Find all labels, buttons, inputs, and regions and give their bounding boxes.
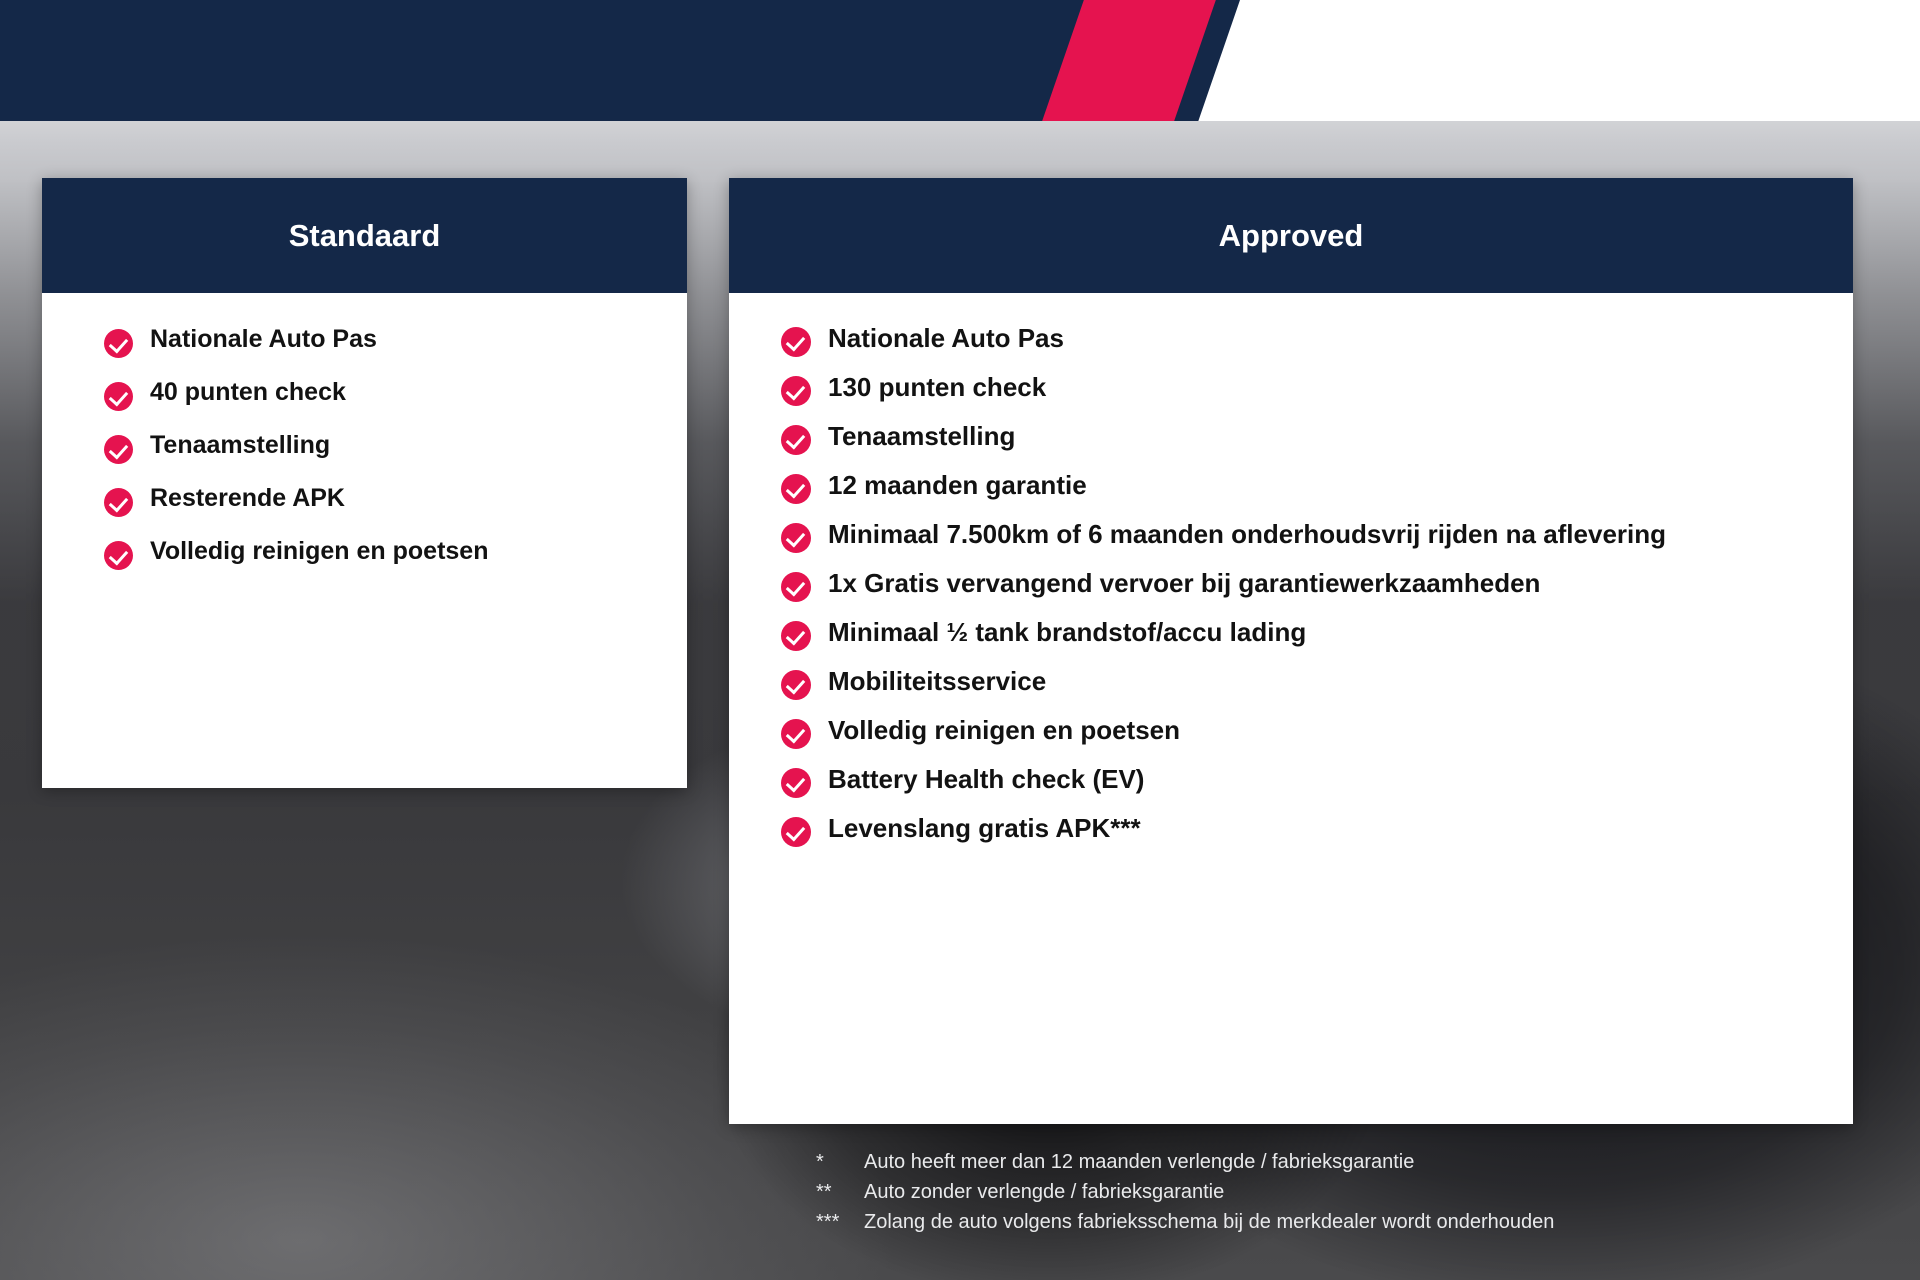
feature-label: Tenaamstelling <box>828 419 1015 455</box>
footnote-marker: ** <box>816 1178 864 1208</box>
check-circle-icon <box>781 327 811 357</box>
feature-item: 40 punten check <box>104 378 687 411</box>
feature-list-standaard: Nationale Auto Pas40 punten checkTenaams… <box>104 325 687 570</box>
feature-item: Nationale Auto Pas <box>781 321 1791 357</box>
feature-item: Tenaamstelling <box>781 419 1791 455</box>
check-circle-icon <box>781 621 811 651</box>
footnote-row: ***Zolang de auto volgens fabrieksschema… <box>816 1208 1554 1238</box>
feature-item: 130 punten check <box>781 370 1791 406</box>
feature-item: Tenaamstelling <box>104 431 687 464</box>
check-circle-icon <box>781 719 811 749</box>
feature-label: Tenaamstelling <box>150 431 330 460</box>
feature-item: Mobiliteitsservice <box>781 664 1791 700</box>
feature-label: Volledig reinigen en poetsen <box>150 537 488 566</box>
footnote-marker: * <box>816 1148 864 1178</box>
check-circle-icon <box>104 488 133 517</box>
feature-label: 40 punten check <box>150 378 346 407</box>
footnote-marker: *** <box>816 1208 864 1238</box>
check-circle-icon <box>781 425 811 455</box>
card-title-approved: Approved <box>729 178 1853 293</box>
feature-label: Nationale Auto Pas <box>150 325 377 354</box>
footnote-text: Zolang de auto volgens fabrieksschema bi… <box>864 1208 1554 1238</box>
page-header <box>0 0 1920 121</box>
check-circle-icon <box>781 670 811 700</box>
feature-label: Resterende APK <box>150 484 345 513</box>
feature-label: 1x Gratis vervangend vervoer bij garanti… <box>828 566 1540 602</box>
check-circle-icon <box>104 382 133 411</box>
footnote-row: **Auto zonder verlengde / fabrieksgarant… <box>816 1178 1554 1208</box>
feature-item: Volledig reinigen en poetsen <box>104 537 687 570</box>
check-circle-icon <box>104 435 133 464</box>
feature-list-approved: Nationale Auto Pas130 punten checkTenaam… <box>781 321 1853 847</box>
background-highlight <box>0 112 1920 182</box>
feature-label: Volledig reinigen en poetsen <box>828 713 1180 749</box>
feature-label: Mobiliteitsservice <box>828 664 1046 700</box>
feature-label: 130 punten check <box>828 370 1046 406</box>
feature-item: Nationale Auto Pas <box>104 325 687 358</box>
feature-item: Minimaal ½ tank brandstof/accu lading <box>781 615 1791 651</box>
footnote-text: Auto heeft meer dan 12 maanden verlengde… <box>864 1148 1414 1178</box>
feature-label: Battery Health check (EV) <box>828 762 1144 798</box>
card-title-standaard: Standaard <box>42 178 687 293</box>
feature-item: 1x Gratis vervangend vervoer bij garanti… <box>781 566 1791 602</box>
check-circle-icon <box>781 572 811 602</box>
check-circle-icon <box>781 817 811 847</box>
header-white-panel <box>1198 0 1920 121</box>
feature-label: 12 maanden garantie <box>828 468 1087 504</box>
check-circle-icon <box>781 474 811 504</box>
check-circle-icon <box>781 523 811 553</box>
feature-item: Levenslang gratis APK*** <box>781 811 1791 847</box>
feature-label: Minimaal ½ tank brandstof/accu lading <box>828 615 1306 651</box>
footnote-row: *Auto heeft meer dan 12 maanden verlengd… <box>816 1148 1554 1178</box>
package-card-approved: Approved Nationale Auto Pas130 punten ch… <box>729 178 1853 1124</box>
check-circle-icon <box>781 376 811 406</box>
feature-item: Battery Health check (EV) <box>781 762 1791 798</box>
check-circle-icon <box>781 768 811 798</box>
feature-item: Volledig reinigen en poetsen <box>781 713 1791 749</box>
check-circle-icon <box>104 541 133 570</box>
feature-label: Minimaal 7.500km of 6 maanden onderhouds… <box>828 517 1666 553</box>
footnote-text: Auto zonder verlengde / fabrieksgarantie <box>864 1178 1224 1208</box>
header-pink-accent <box>1042 0 1216 121</box>
card-body-standaard: Nationale Auto Pas40 punten checkTenaams… <box>42 325 687 570</box>
package-card-standaard: Standaard Nationale Auto Pas40 punten ch… <box>42 178 687 788</box>
footnotes: *Auto heeft meer dan 12 maanden verlengd… <box>816 1148 1554 1237</box>
feature-item: 12 maanden garantie <box>781 468 1791 504</box>
check-circle-icon <box>104 329 133 358</box>
feature-item: Resterende APK <box>104 484 687 517</box>
feature-item: Minimaal 7.500km of 6 maanden onderhouds… <box>781 517 1791 553</box>
feature-label: Levenslang gratis APK*** <box>828 811 1141 847</box>
card-body-approved: Nationale Auto Pas130 punten checkTenaam… <box>729 321 1853 847</box>
feature-label: Nationale Auto Pas <box>828 321 1064 357</box>
